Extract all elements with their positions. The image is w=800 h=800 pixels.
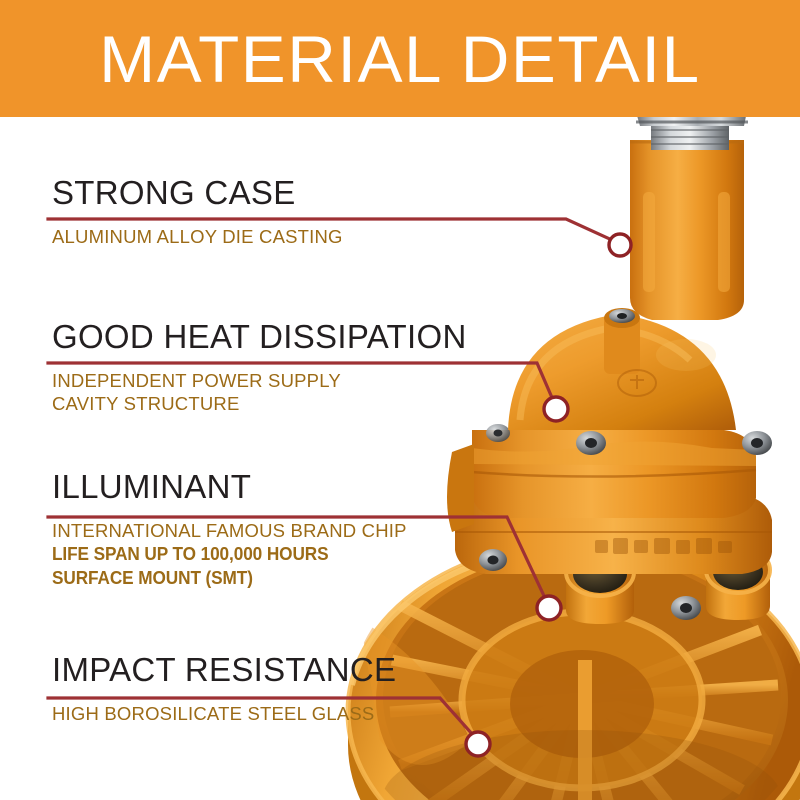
vent-stud [604, 308, 640, 374]
callout-sub-line: INTERNATIONAL FAMOUS BRAND CHIP [52, 519, 407, 543]
callout-sub-line: LIFE SPAN UP TO 100,000 HOURS [52, 542, 382, 566]
callout-sub-1: ALUMINUM ALLOY DIE CASTING [52, 225, 343, 249]
callout-heading-2: GOOD HEAT DISSIPATION [52, 320, 467, 354]
embossed-marking [595, 538, 732, 554]
callout-impact-resistance: IMPACT RESISTANCE HIGH BOROSILICATE STEE… [52, 653, 396, 725]
power-supply-cavity-dome [508, 308, 736, 430]
callout-sub-line: INDEPENDENT POWER SUPPLY [52, 369, 467, 393]
page-title: MATERIAL DETAIL [99, 26, 701, 92]
cast-upper-housing [630, 140, 744, 320]
callout-heading-1: STRONG CASE [52, 176, 343, 210]
callout-sub-4: HIGH BOROSILICATE STEEL GLASS [52, 702, 396, 726]
callout-good-heat-dissipation: GOOD HEAT DISSIPATION INDEPENDENT POWER … [52, 320, 467, 416]
callout-illuminant: ILLUMINANT INTERNATIONAL FAMOUS BRAND CH… [52, 470, 407, 590]
infographic-page: MATERIAL DETAIL STRONG CASE ALUMINUM ALL… [0, 0, 800, 800]
callout-sub-line: SURFACE MOUNT (SMT) [52, 566, 382, 590]
callout-heading-4: IMPACT RESISTANCE [52, 653, 396, 687]
header-banner: MATERIAL DETAIL [0, 0, 800, 117]
callout-sub-2: INDEPENDENT POWER SUPPLY CAVITY STRUCTUR… [52, 369, 467, 416]
callout-sub-line: ALUMINUM ALLOY DIE CASTING [52, 225, 343, 249]
callout-sub-line: HIGH BOROSILICATE STEEL GLASS [52, 702, 396, 726]
callout-sub-3: INTERNATIONAL FAMOUS BRAND CHIP LIFE SPA… [52, 519, 407, 590]
callout-heading-3: ILLUMINANT [52, 470, 407, 504]
callout-sub-line: CAVITY STRUCTURE [52, 392, 467, 416]
callout-strong-case: STRONG CASE ALUMINUM ALLOY DIE CASTING [52, 176, 343, 248]
